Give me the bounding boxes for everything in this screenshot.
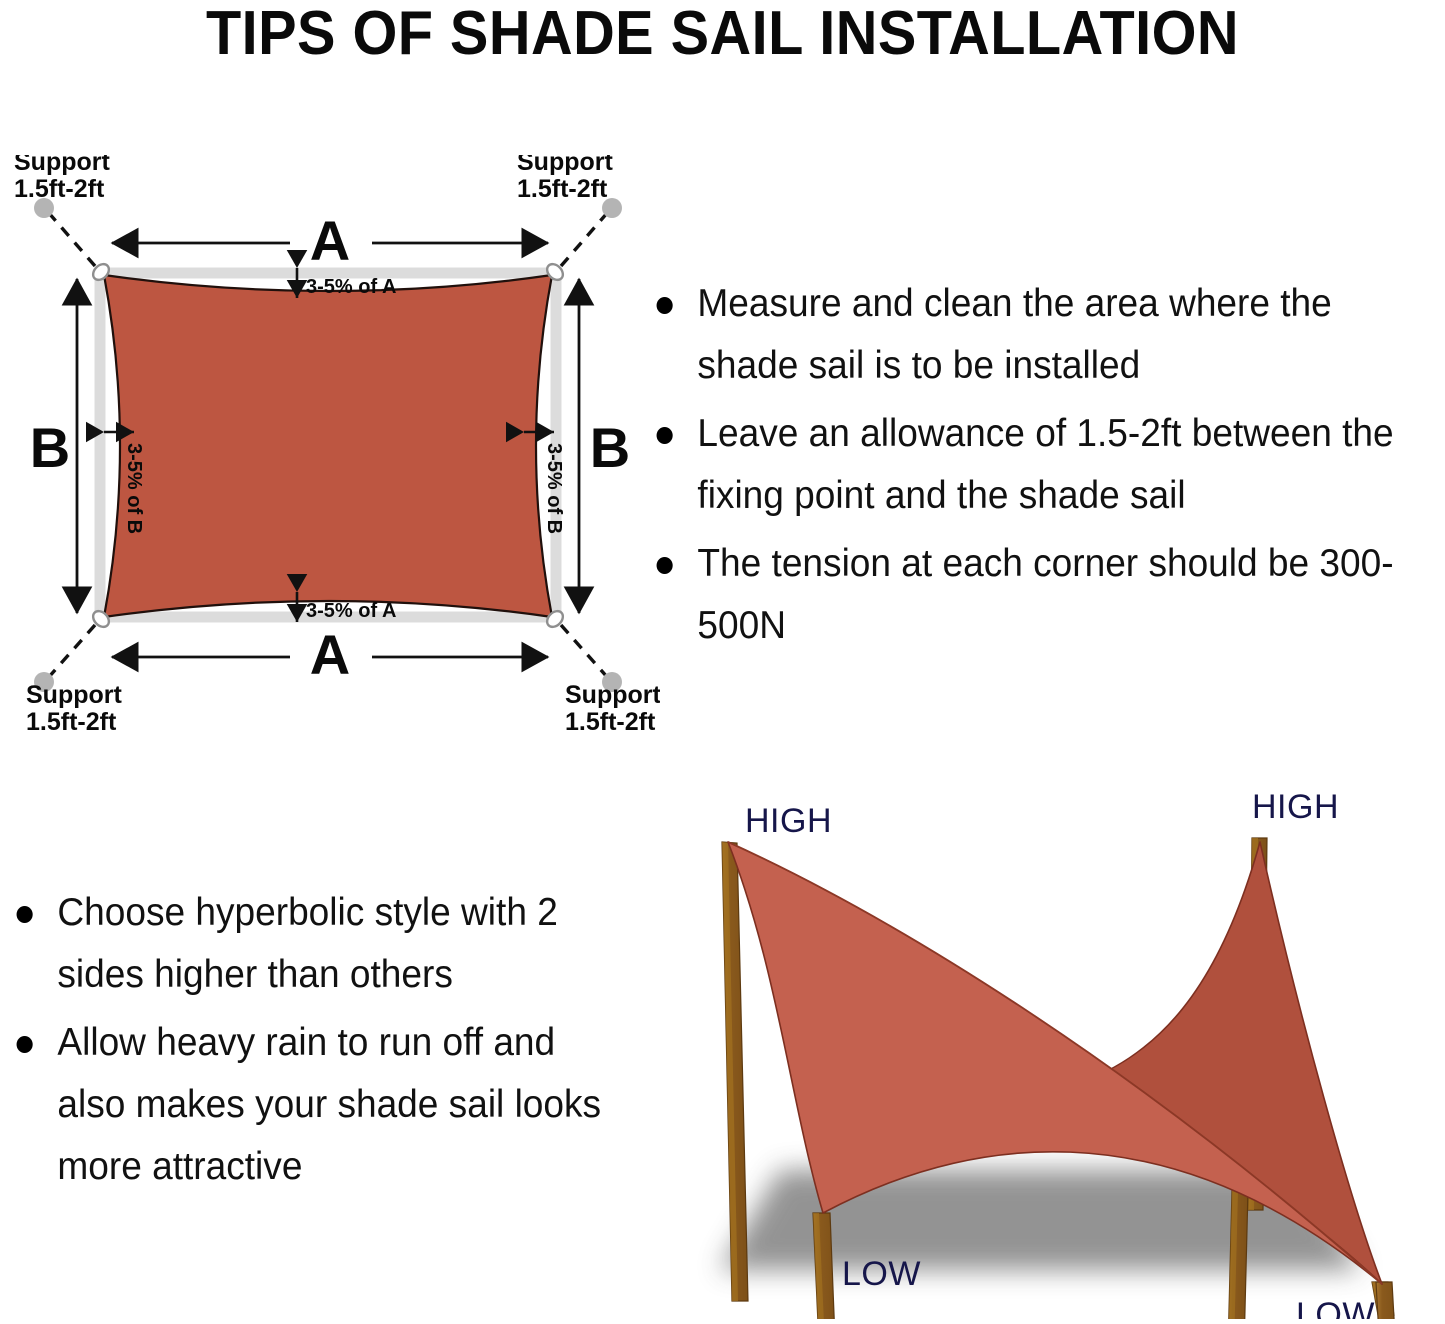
hyperbolic-shade-sail-illustration: HIGH HIGH LOW LOW xyxy=(660,770,1445,1319)
support-label-top-left-line1: Support xyxy=(14,155,110,176)
list-item: Allow heavy rain to run off and also mak… xyxy=(8,1012,607,1198)
post-label-low-left: LOW xyxy=(842,1255,921,1293)
dimension-b-left-curve-note: 3-5% of B xyxy=(123,443,145,534)
dimension-a-bottom-curve-note: 3-5% of A xyxy=(306,600,396,622)
support-label-top-left-line2: 1.5ft-2ft xyxy=(14,175,105,203)
list-item: Choose hyperbolic style with 2 sides hig… xyxy=(8,882,607,1006)
dimension-a-top-curve-note: 3-5% of A xyxy=(306,276,396,298)
support-guide-line-top-right xyxy=(561,212,608,266)
support-label-bottom-left-line1: Support xyxy=(26,681,122,709)
post-label-low-right: LOW xyxy=(1296,1296,1375,1319)
support-label-top-right-line2: 1.5ft-2ft xyxy=(517,175,608,203)
shade-sail-fabric xyxy=(104,275,552,617)
support-guide-line-bottom-right xyxy=(561,625,608,678)
dimension-b-left-label: B xyxy=(30,416,70,479)
sail-dimension-diagram: A 3-5% of A A 3-5% of A B 3-5% of B B xyxy=(0,155,660,735)
list-item: Measure and clean the area where the sha… xyxy=(648,273,1408,397)
post-label-high-right: HIGH xyxy=(1252,788,1339,826)
support-label-bottom-left: Support 1.5ft-2ft xyxy=(26,681,122,735)
support-label-top-left: Support 1.5ft-2ft xyxy=(14,155,110,203)
list-item: The tension at each corner should be 300… xyxy=(648,533,1408,657)
support-guide-line-top-left xyxy=(48,212,95,266)
post-high-left xyxy=(722,842,748,1301)
support-label-top-right: Support 1.5ft-2ft xyxy=(517,155,613,203)
installation-tips-list-left: Choose hyperbolic style with 2 sides hig… xyxy=(8,882,638,1204)
post-low-right-lower xyxy=(1376,1282,1398,1319)
post-label-high-left: HIGH xyxy=(745,802,832,840)
dimension-a-bottom-label: A xyxy=(310,623,350,686)
page-title: TIPS OF SHADE SAIL INSTALLATION xyxy=(51,2,1395,66)
support-label-bottom-right-line2: 1.5ft-2ft xyxy=(565,708,656,735)
support-guide-line-bottom-left xyxy=(48,625,95,678)
dimension-b-right-label: B xyxy=(590,416,630,479)
support-label-bottom-left-line2: 1.5ft-2ft xyxy=(26,708,117,735)
dimension-b-right-curve-note: 3-5% of B xyxy=(543,443,565,534)
installation-tips-list-right: Measure and clean the area where the sha… xyxy=(648,273,1445,663)
list-item: Leave an allowance of 1.5-2ft between th… xyxy=(648,403,1408,527)
support-label-bottom-right-line1: Support xyxy=(565,681,660,709)
dimension-a-top-label: A xyxy=(310,209,350,272)
support-label-top-right-line1: Support xyxy=(517,155,613,176)
support-label-bottom-right: Support 1.5ft-2ft xyxy=(565,681,660,735)
